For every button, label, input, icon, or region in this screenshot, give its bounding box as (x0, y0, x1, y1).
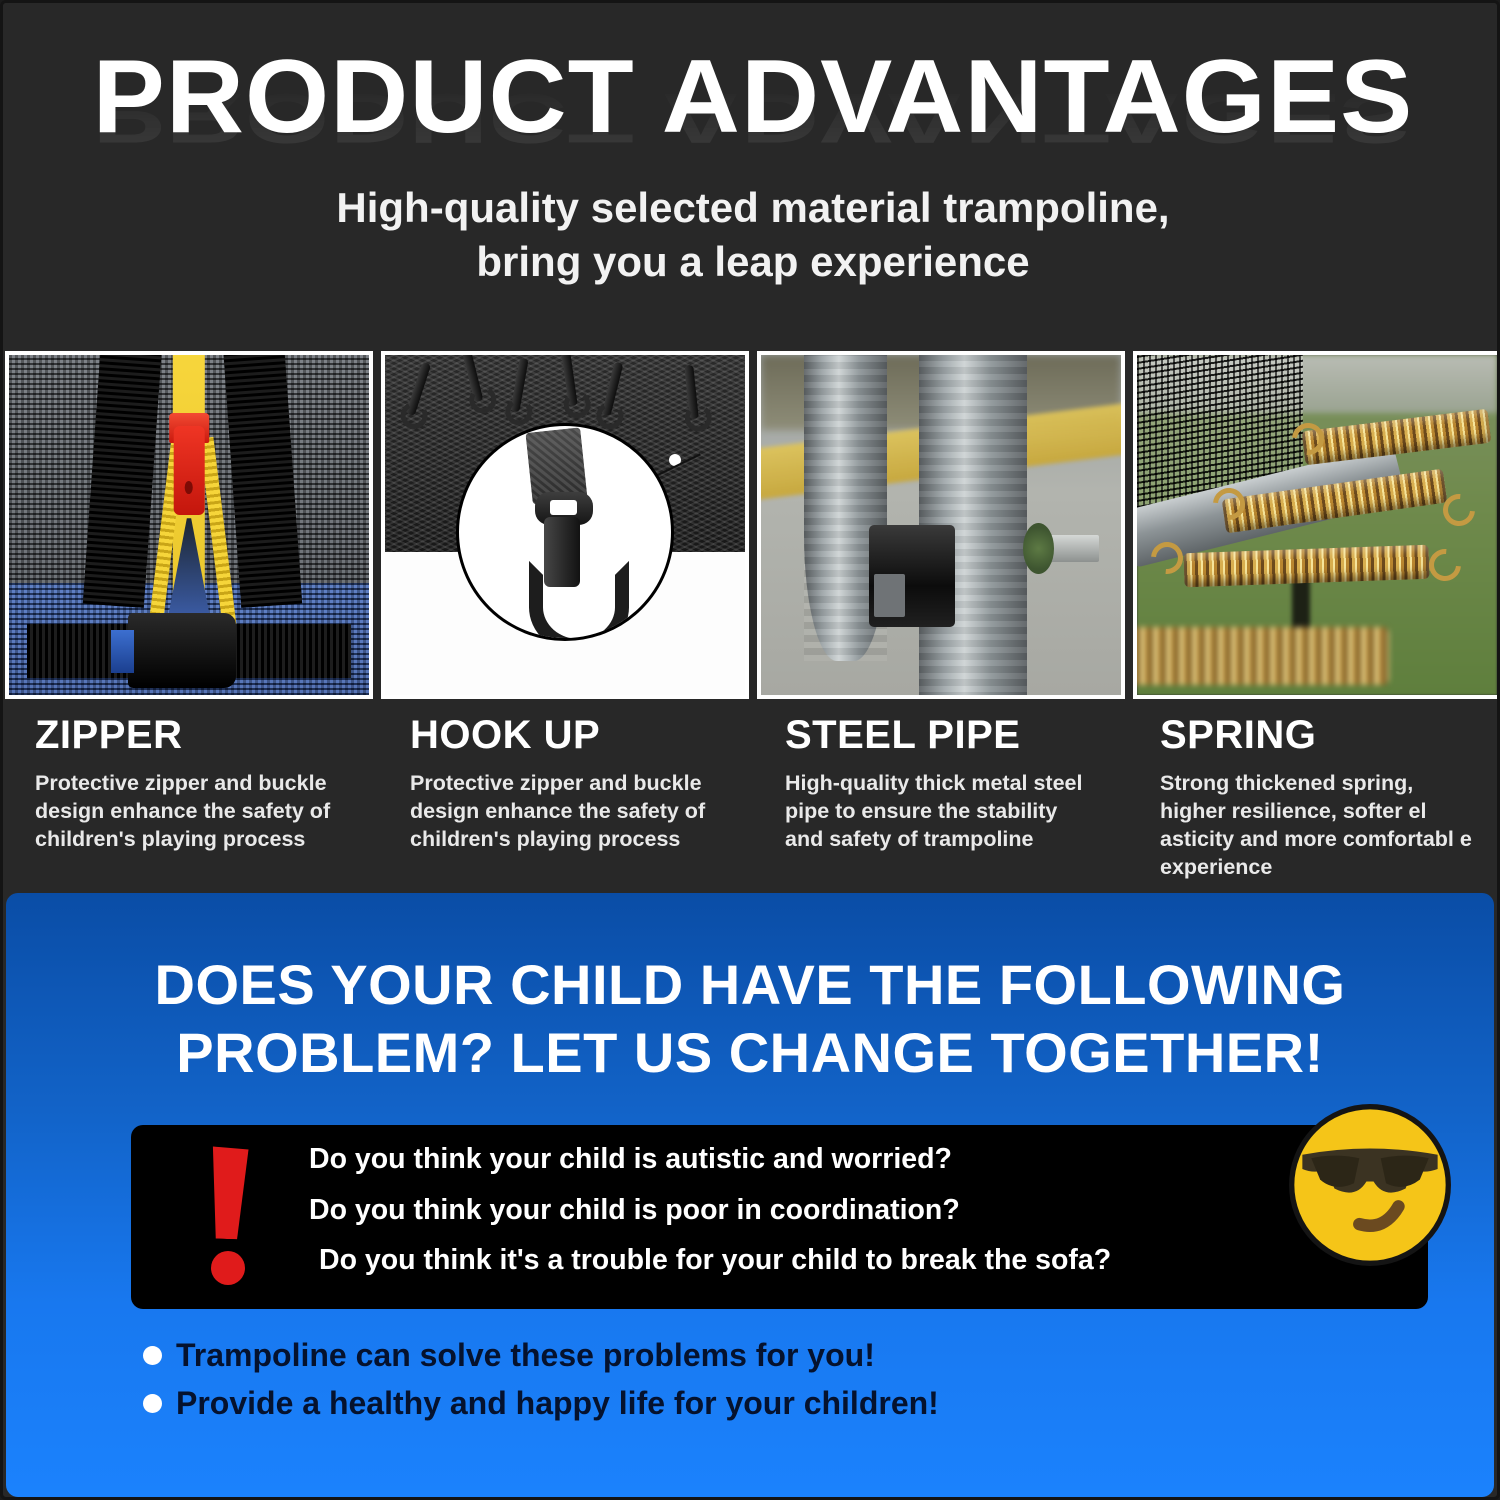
promo-heading: DOES YOUR CHILD HAVE THE FOLLOWING PROBL… (6, 951, 1494, 1088)
caption-body: Strong thickened spring, higher resilien… (1160, 770, 1475, 882)
header-subtitle-line-2: bring you a leap experience (3, 235, 1500, 289)
caption-title: SPRING (1160, 713, 1475, 758)
promo-bullet-item: Provide a healthy and happy life for you… (143, 1384, 1343, 1422)
caption-body: Protective zipper and buckle design enha… (410, 770, 725, 854)
exclamation-bar (207, 1146, 248, 1239)
zipper-photo (9, 355, 369, 695)
promo-heading-line-2: PROBLEM? LET US CHANGE TOGETHER! (66, 1019, 1434, 1087)
page-title: PRODUCT ADVANTAGES (0, 45, 1500, 149)
promo-heading-line-1: DOES YOUR CHILD HAVE THE FOLLOWING (66, 951, 1434, 1019)
promo-bullet-item: Trampoline can solve these problems for … (143, 1336, 1343, 1374)
caption-title: ZIPPER (35, 713, 350, 758)
black-pipe-clip (869, 525, 955, 627)
question-item: Do you think your child is autistic and … (309, 1145, 1402, 1174)
caption-steel-pipe: STEEL PIPE High-quality thick metal stee… (753, 703, 1128, 893)
bolt-screw (1049, 535, 1099, 562)
side-release-buckle (128, 613, 236, 688)
header-subtitle: High-quality selected material trampolin… (3, 181, 1500, 289)
bullet-text: Trampoline can solve these problems for … (176, 1336, 875, 1374)
caption-spring: SPRING Strong thickened spring, higher r… (1128, 703, 1500, 893)
caption-hook-up: HOOK UP Protective zipper and buckle des… (378, 703, 753, 893)
photo-tile-hook-up (381, 351, 749, 699)
photo-tile-spring (1133, 351, 1500, 699)
promo-bullet-list: Trampoline can solve these problems for … (143, 1336, 1343, 1433)
magnified-hook-curve (529, 561, 629, 640)
bullet-dot-icon (143, 1394, 162, 1413)
exclamation-icon (203, 1147, 263, 1287)
red-zipper-pull (174, 426, 205, 514)
exclamation-dot (211, 1251, 245, 1285)
sunglasses-smiley-emoji (1281, 1096, 1459, 1274)
caption-zipper: ZIPPER Protective zipper and buckle desi… (3, 703, 378, 893)
bullet-dot-icon (143, 1346, 162, 1365)
photo-tile-steel-pipe (757, 351, 1125, 699)
photo-tile-zipper (5, 351, 373, 699)
caption-body: Protective zipper and buckle design enha… (35, 770, 350, 854)
feature-photo-row (3, 351, 1500, 699)
bullet-text: Provide a healthy and happy life for you… (176, 1384, 939, 1422)
question-list: Do you think your child is autistic and … (309, 1145, 1402, 1275)
steel-pipe-photo (761, 355, 1121, 695)
feature-caption-row: ZIPPER Protective zipper and buckle desi… (3, 703, 1500, 893)
magnifier-callout (456, 423, 674, 641)
question-item: Do you think it's a trouble for your chi… (319, 1246, 1402, 1275)
caption-title: HOOK UP (410, 713, 725, 758)
caption-body: High-quality thick metal steel pipe to e… (785, 770, 1100, 854)
header-subtitle-line-1: High-quality selected material trampolin… (3, 181, 1500, 235)
product-advantages-poster: PRODUCT ADVANTAGES PRODUCT ADVANTAGES Hi… (0, 0, 1500, 1500)
caption-title: STEEL PIPE (785, 713, 1100, 758)
spring-photo (1137, 355, 1497, 695)
question-box: Do you think your child is autistic and … (131, 1125, 1428, 1309)
header-section: PRODUCT ADVANTAGES PRODUCT ADVANTAGES Hi… (3, 3, 1500, 345)
question-item: Do you think your child is poor in coord… (309, 1196, 1402, 1225)
spring-coil-blurred (1137, 627, 1389, 685)
hook-up-photo (385, 355, 745, 695)
title-block: PRODUCT ADVANTAGES (3, 45, 1500, 149)
